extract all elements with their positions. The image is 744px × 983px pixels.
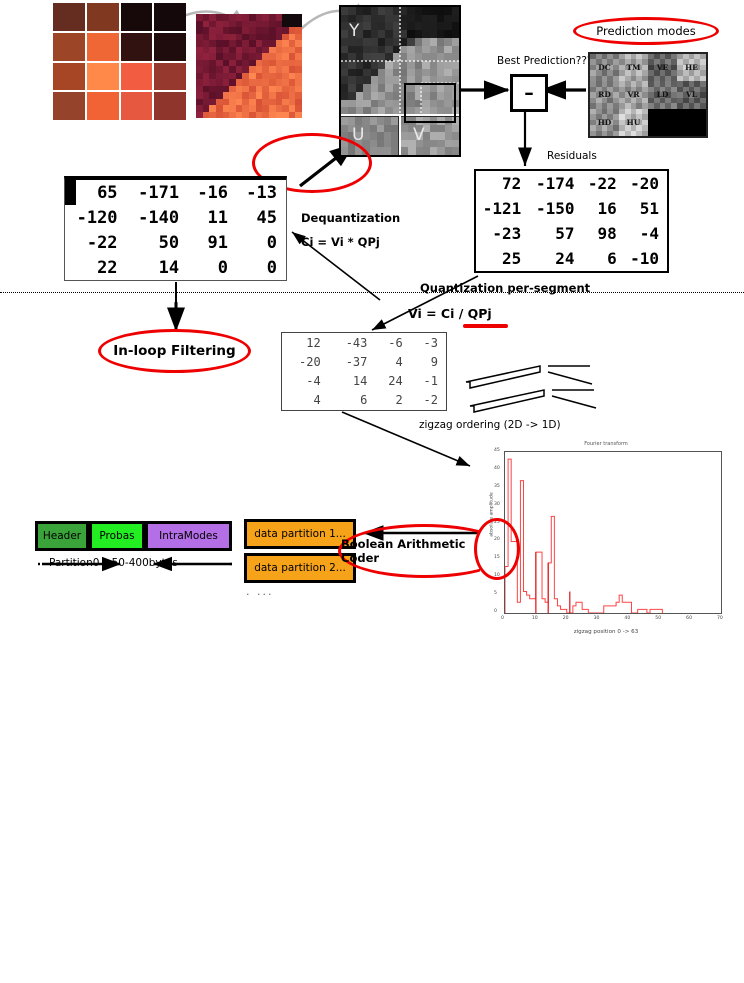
chart-x-tick: 40 xyxy=(624,616,630,621)
prediction-mode-vr[interactable]: VR xyxy=(619,81,648,108)
matrix-row: -121-1501651 xyxy=(476,196,667,221)
matrix-cell: 0 xyxy=(237,255,286,280)
image-pixel xyxy=(87,92,119,120)
matrix-cell: -22 xyxy=(65,230,127,255)
image-pixel xyxy=(256,112,263,119)
image-pixel xyxy=(196,112,203,119)
matrix-cell: -10 xyxy=(625,246,667,271)
prediction-mode-label: VR xyxy=(627,90,639,99)
image-pixel xyxy=(276,112,283,119)
prediction-mode-label: HE xyxy=(685,63,698,72)
matrix-row: 65-171-16-13 xyxy=(65,180,286,205)
image-pixel xyxy=(249,112,256,119)
matrix-cell: 0 xyxy=(188,255,237,280)
image-pixel xyxy=(229,112,236,119)
data-partition-2-label: data partition 2... xyxy=(254,562,346,574)
image-pixel xyxy=(87,33,119,61)
prediction-mode-label: TM xyxy=(627,63,641,72)
quantization-formula-underline xyxy=(463,324,508,328)
chart-x-tick: 70 xyxy=(717,616,723,621)
matrix-row: 462-2 xyxy=(282,391,446,410)
matrix-cell: 0 xyxy=(237,230,286,255)
image-pixel xyxy=(121,33,153,61)
matrix-cell: 91 xyxy=(188,230,237,255)
matrix-cell: 4 xyxy=(282,391,329,410)
prediction-mode-label: DC xyxy=(598,63,610,72)
dc-coefficient-marker xyxy=(65,180,76,205)
image-pixel xyxy=(295,112,302,119)
yuv-subdivision-lines xyxy=(341,7,459,155)
prediction-mode-ve[interactable]: VE xyxy=(648,54,677,81)
image-pixel xyxy=(242,112,249,119)
matrix-cell: -1 xyxy=(411,372,446,391)
bitstream-intramodes-label: IntraModes xyxy=(159,530,218,542)
matrix-cell: -43 xyxy=(329,333,376,352)
prediction-mode-he[interactable]: HE xyxy=(677,54,706,81)
prediction-mode-label: VL xyxy=(686,90,697,99)
matrix-row: -20-3749 xyxy=(282,352,446,371)
matrix-cell: 50 xyxy=(127,230,189,255)
prediction-mode-tm[interactable]: TM xyxy=(619,54,648,81)
prediction-mode-label: HD xyxy=(598,118,612,127)
prediction-mode-ld[interactable]: LD xyxy=(648,81,677,108)
bitstream-block-probas[interactable]: Probas xyxy=(89,521,145,551)
matrix-cell: 72 xyxy=(476,171,529,196)
yuv-planes-panel: Y U V xyxy=(339,5,461,157)
matrix-cell: 24 xyxy=(529,246,582,271)
image-pixel xyxy=(87,63,119,91)
minus-icon: – xyxy=(524,82,534,104)
zigzag-scan-glyph xyxy=(466,366,596,412)
matrix-row: 25246-10 xyxy=(476,246,667,271)
prediction-mode-label: HU xyxy=(627,118,641,127)
residuals-matrix: 72-174-22-20-121-1501651-235798-425246-1… xyxy=(474,169,669,273)
prediction-modes-highlight: Prediction modes xyxy=(573,17,719,45)
image-pixel xyxy=(53,3,85,31)
matrix-row: -2250910 xyxy=(65,230,286,255)
image-pixel xyxy=(53,33,85,61)
matrix-cell: 51 xyxy=(625,196,667,221)
chart-y-tick: 30 xyxy=(494,502,500,507)
matrix-cell: 24 xyxy=(375,372,410,391)
matrix-cell: 98 xyxy=(583,221,625,246)
matrix-cell: -140 xyxy=(127,205,189,230)
matrix-cell: 57 xyxy=(529,221,582,246)
matrix-cell: -13 xyxy=(237,180,286,205)
dequantized-coefficients-matrix: 65-171-16-13-120-1401145-2250910221400 xyxy=(64,176,287,281)
bitstream-block-intramodes[interactable]: IntraModes xyxy=(145,521,232,551)
matrix-cell: -6 xyxy=(375,333,410,352)
chart-y-tick: 0 xyxy=(494,609,497,614)
chart-y-tick: 40 xyxy=(494,466,500,471)
matrix-row: -235798-4 xyxy=(476,221,667,246)
in-loop-filtering-node[interactable]: In-loop Filtering xyxy=(98,329,251,373)
chart-step-series xyxy=(505,459,662,613)
matrix-row: 221400 xyxy=(65,255,286,280)
matrix-cell: -16 xyxy=(188,180,237,205)
prediction-modes-grid[interactable]: DCTMVEHERDVRLDVLHDHU xyxy=(588,52,708,138)
prediction-mode-label: RD xyxy=(598,90,611,99)
image-pixel xyxy=(223,112,230,119)
matrix-cell: 16 xyxy=(583,196,625,221)
matrix-cell: -3 xyxy=(411,333,446,352)
matrix-cell: -4 xyxy=(625,221,667,246)
image-pixel xyxy=(121,63,153,91)
dequantized-table: 65-171-16-13-120-1401145-2250910221400 xyxy=(65,180,286,280)
image-pixel xyxy=(53,92,85,120)
prediction-mode-empty[interactable] xyxy=(648,109,677,136)
image-pixel xyxy=(289,112,296,119)
matrix-row: -120-1401145 xyxy=(65,205,286,230)
quantized-table: 12-43-6-3-20-3749-41424-1462-2 xyxy=(282,333,446,410)
matrix-cell: -171 xyxy=(127,180,189,205)
image-pixel xyxy=(216,112,223,119)
matrix-cell: -121 xyxy=(476,196,529,221)
image-pixel xyxy=(154,92,186,120)
image-pixel xyxy=(269,112,276,119)
quantization-formula: Vi = Ci / QPj xyxy=(408,306,492,321)
y-axis-highlight-ellipse xyxy=(474,518,520,580)
matrix-cell: -20 xyxy=(282,352,329,371)
chart-title: Fourier transform xyxy=(480,441,732,447)
prediction-modes-label: Prediction modes xyxy=(596,24,695,38)
bitstream-probas-label: Probas xyxy=(99,530,134,542)
image-pixel xyxy=(236,112,243,119)
chart-x-tick: 10 xyxy=(532,616,538,621)
matrix-cell: -22 xyxy=(583,171,625,196)
prediction-mode-dc[interactable]: DC xyxy=(590,54,619,81)
chart-y-tick: 5 xyxy=(494,591,497,596)
prediction-mode-vl[interactable]: VL xyxy=(677,81,706,108)
chart-x-tick: 60 xyxy=(686,616,692,621)
image-pixel xyxy=(154,33,186,61)
image-pixel xyxy=(262,112,269,119)
residuals-table: 72-174-22-20-121-1501651-235798-425246-1… xyxy=(476,171,667,271)
matrix-cell: -2 xyxy=(411,391,446,410)
chart-x-tick: 50 xyxy=(655,616,661,621)
prediction-mode-hd[interactable]: HD xyxy=(590,109,619,136)
matrix-cell: -120 xyxy=(65,205,127,230)
image-pixel xyxy=(121,92,153,120)
image-pixel xyxy=(203,112,210,119)
matrix-cell: -37 xyxy=(329,352,376,371)
matrix-cell: 12 xyxy=(282,333,329,352)
matrix-cell: 11 xyxy=(188,205,237,230)
prediction-mode-label: LD xyxy=(657,90,669,99)
subtract-node: – xyxy=(510,74,548,112)
matrix-row: 12-43-6-3 xyxy=(282,333,446,352)
matrix-cell: -174 xyxy=(529,171,582,196)
bitstream-block-header[interactable]: Header xyxy=(35,521,89,551)
residuals-caption: Residuals xyxy=(547,150,597,162)
matrix-cell: 22 xyxy=(65,255,127,280)
matrix-row: 72-174-22-20 xyxy=(476,171,667,196)
image-pixel xyxy=(121,3,153,31)
quantization-caption: Quantization per-segment xyxy=(420,281,590,295)
image-pixel xyxy=(154,63,186,91)
quantized-levels-matrix: 12-43-6-3-20-3749-41424-1462-2 xyxy=(281,332,447,411)
image-pixel xyxy=(87,3,119,31)
matrix-cell: 45 xyxy=(237,205,286,230)
matrix-cell: -20 xyxy=(625,171,667,196)
chart-x-tick: 0 xyxy=(501,616,504,621)
matrix-cell: 14 xyxy=(329,372,376,391)
chart-series-path xyxy=(505,452,721,613)
image-pixel xyxy=(154,3,186,31)
chart-y-tick: 45 xyxy=(494,448,500,453)
chart-y-tick: 35 xyxy=(494,484,500,489)
bitstream-data-partition-2[interactable]: data partition 2... xyxy=(244,553,356,583)
matrix-cell: -150 xyxy=(529,196,582,221)
matrix-row: -41424-1 xyxy=(282,372,446,391)
matrix-cell: -4 xyxy=(282,372,329,391)
zoomed-macroblock xyxy=(196,14,302,118)
matrix-cell: 6 xyxy=(583,246,625,271)
matrix-cell: 9 xyxy=(411,352,446,371)
pipeline-divider xyxy=(0,292,744,293)
image-pixel xyxy=(209,112,216,119)
partition0-span-label: Partition0 ~50-400bytes xyxy=(49,557,178,569)
matrix-cell: 6 xyxy=(329,391,376,410)
dequantization-caption: Dequantization xyxy=(301,211,400,225)
data-partition-1-label: data partition 1... xyxy=(254,528,346,540)
chart-x-tick: 20 xyxy=(563,616,569,621)
zigzag-ordering-label: zigzag ordering (2D -> 1D) xyxy=(419,419,561,431)
chart-plot-area xyxy=(504,451,722,614)
bitstream-header-label: Header xyxy=(43,530,81,542)
in-loop-filtering-label: In-loop Filtering xyxy=(113,343,235,359)
image-pixel xyxy=(282,112,289,119)
chart-x-tick: 30 xyxy=(594,616,600,621)
dequantization-formula: Ci = Vi * QPj xyxy=(301,235,380,249)
prediction-mode-empty[interactable] xyxy=(677,109,706,136)
matrix-cell: 4 xyxy=(375,352,410,371)
matrix-cell: 14 xyxy=(127,255,189,280)
matrix-cell: 25 xyxy=(476,246,529,271)
prediction-mode-hu[interactable]: HU xyxy=(619,109,648,136)
matrix-cell: 2 xyxy=(375,391,410,410)
best-prediction-label: Best Prediction??? xyxy=(497,55,592,67)
data-partition-ellipsis: . ... xyxy=(246,585,273,598)
matrix-cell: -23 xyxy=(476,221,529,246)
image-pixel xyxy=(53,63,85,91)
source-frame-macroblock-grid xyxy=(53,3,186,120)
prediction-mode-label: VE xyxy=(657,63,669,72)
yuv-subblock-highlight xyxy=(404,83,456,123)
prediction-mode-rd[interactable]: RD xyxy=(590,81,619,108)
chart-x-axis-label: zigzag position 0 -> 63 xyxy=(480,629,732,635)
